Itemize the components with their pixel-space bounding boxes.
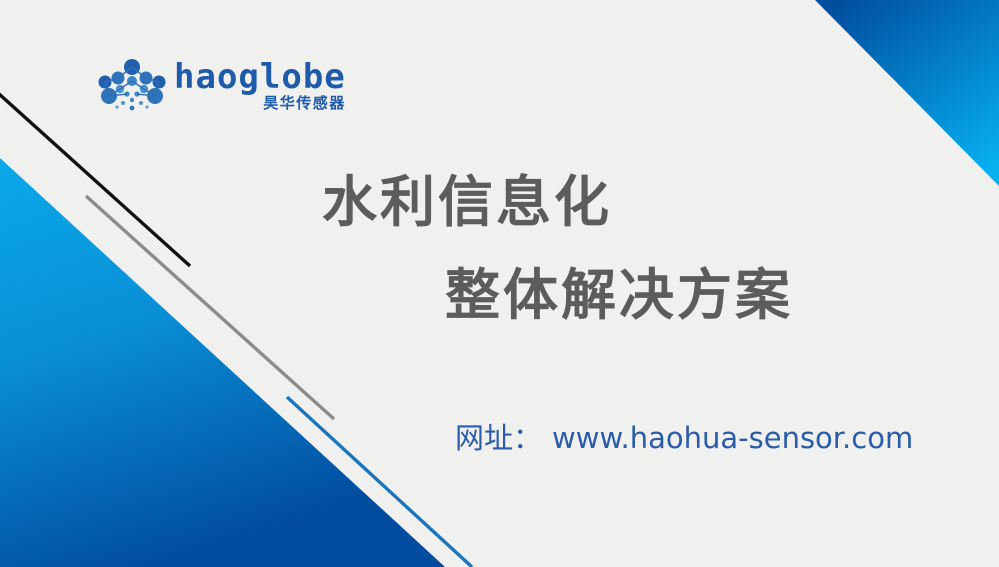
company-logo[interactable]: haoglobe 昊华传感器 <box>96 58 346 116</box>
molecule-network-icon <box>96 58 168 116</box>
page-title-line-1: 水利信息化 <box>322 172 612 232</box>
website-url[interactable]: www.haohua-sensor.com <box>552 421 913 455</box>
logo-subtitle: 昊华传感器 <box>263 95 346 112</box>
logo-text: haoglobe 昊华传感器 <box>174 58 346 112</box>
title-slide: haoglobe 昊华传感器 水利信息化 整体解决方案 网址： www.haoh… <box>0 0 999 567</box>
website-line: 网址： www.haohua-sensor.com <box>455 421 913 455</box>
logo-wordmark: haoglobe <box>174 60 346 94</box>
website-label: 网址： <box>455 421 542 455</box>
page-title-line-2: 整体解决方案 <box>445 265 793 325</box>
top-right-blue-triangle <box>815 0 999 186</box>
